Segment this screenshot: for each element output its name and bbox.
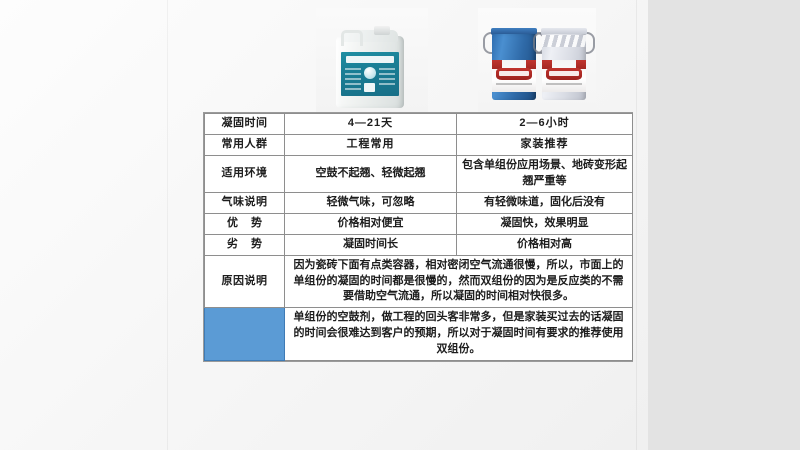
jerrycan-label <box>341 52 399 96</box>
row-label-setting-time: 凝固时间 <box>205 114 285 135</box>
row-label-environment: 适用环境 <box>205 155 285 192</box>
cell-single-odor: 轻微气味，可忽略 <box>285 192 457 213</box>
cell-double-common-users: 家装推荐 <box>457 134 633 155</box>
table-row-note: 单组份的空鼓剂，做工程的回头客非常多，但是家装买过去的话凝固的时间会很难达到客户… <box>205 308 633 361</box>
pail-white-icon <box>540 28 588 102</box>
row-label-disadvantage: 劣 势 <box>205 234 285 255</box>
row-label-advantage: 优 势 <box>205 213 285 234</box>
row-label-odor: 气味说明 <box>205 192 285 213</box>
comparison-table: 凝固时间 4—21天 2—6小时 常用人群 工程常用 家装推荐 适用环境 空鼓不… <box>203 112 633 362</box>
cell-reason-explanation: 因为瓷砖下面有点类容器，相对密闭空气流通很慢，所以，市面上的单组份的凝固的时间都… <box>285 255 633 308</box>
jerrycan-label-text-line <box>345 78 361 80</box>
pail-lid-texture <box>542 35 586 47</box>
jerrycan-label-text-line <box>345 88 361 90</box>
jerrycan-label-text-line <box>379 73 395 75</box>
note-color-swatch <box>205 308 285 361</box>
cell-double-setting-time: 2—6小时 <box>457 114 633 135</box>
jerrycan-label-title <box>346 56 394 63</box>
jerrycan-label-text-line <box>379 78 395 80</box>
cell-recommendation-note: 单组份的空鼓剂，做工程的回头客非常多，但是家装买过去的话凝固的时间会很难达到客户… <box>285 308 633 361</box>
cell-single-environment: 空鼓不起翘、轻微起翘 <box>285 155 457 192</box>
screenshot-root: 凝固时间 4—21天 2—6小时 常用人群 工程常用 家装推荐 适用环境 空鼓不… <box>0 0 800 450</box>
page-seam-left <box>167 0 168 450</box>
pail-label-text <box>549 71 579 76</box>
cell-single-disadvantage: 凝固时间长 <box>285 234 457 255</box>
jerrycan-label-text-line <box>379 68 395 70</box>
jerrycan-label-text-line <box>345 68 361 70</box>
row-label-reason: 原因说明 <box>205 255 285 308</box>
jerrycan-label-text-line <box>379 83 395 85</box>
jerrycan-icon <box>336 26 404 108</box>
pail-label-text <box>499 71 529 76</box>
page-background-right <box>648 0 800 450</box>
page-seam-right <box>636 0 637 450</box>
table-row: 凝固时间 4—21天 2—6小时 <box>205 114 633 135</box>
cell-double-disadvantage: 价格相对高 <box>457 234 633 255</box>
jerrycan-cap <box>374 26 390 35</box>
pail-blue-icon <box>490 28 538 102</box>
table-row: 适用环境 空鼓不起翘、轻微起翘 包含单组份应用场景、地砖变形起翘严重等 <box>205 155 633 192</box>
jerrycan-handle <box>341 30 363 46</box>
jerrycan-label-emblem-icon <box>364 67 376 79</box>
cell-double-advantage: 凝固快，效果明显 <box>457 213 633 234</box>
jerrycan-label-text-line <box>345 73 361 75</box>
table-row-reason: 原因说明 因为瓷砖下面有点类容器，相对密闭空气流通很慢，所以，市面上的单组份的凝… <box>205 255 633 308</box>
row-label-common-users: 常用人群 <box>205 134 285 155</box>
cell-double-odor: 有轻微味道，固化后没有 <box>457 192 633 213</box>
product-photo-single-component <box>316 8 428 112</box>
pail-label-footer-line <box>496 83 532 85</box>
product-photo-two-component <box>478 8 596 112</box>
jerrycan-label-text-line <box>345 83 361 85</box>
table-row: 优 势 价格相对便宜 凝固快，效果明显 <box>205 213 633 234</box>
cell-single-advantage: 价格相对便宜 <box>285 213 457 234</box>
cell-single-setting-time: 4—21天 <box>285 114 457 135</box>
jerrycan-label-certification-mark <box>364 83 375 92</box>
pail-label-footer-line <box>546 83 582 85</box>
table-row: 气味说明 轻微气味，可忽略 有轻微味道，固化后没有 <box>205 192 633 213</box>
table-row: 常用人群 工程常用 家装推荐 <box>205 134 633 155</box>
cell-double-environment: 包含单组份应用场景、地砖变形起翘严重等 <box>457 155 633 192</box>
table-row: 劣 势 凝固时间长 价格相对高 <box>205 234 633 255</box>
cell-single-common-users: 工程常用 <box>285 134 457 155</box>
